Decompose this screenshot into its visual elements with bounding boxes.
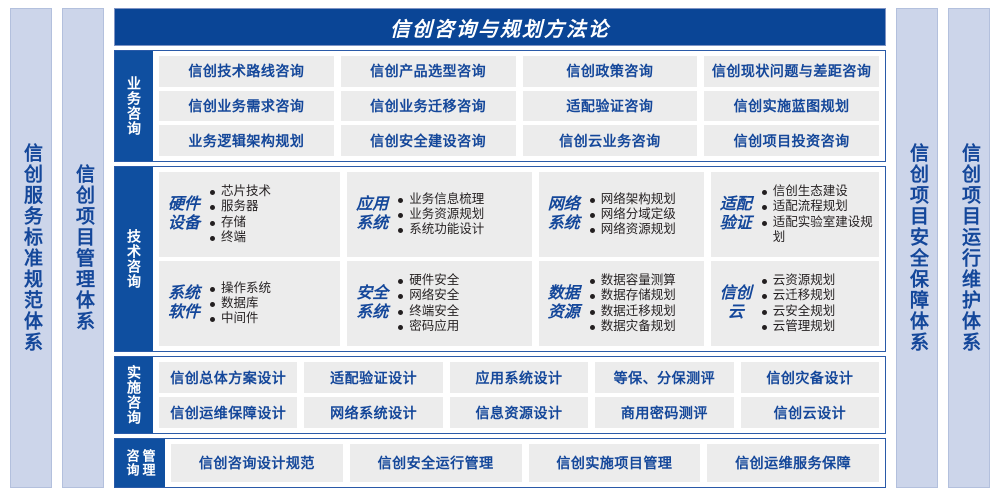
card-title-line1: 数据 xyxy=(548,285,580,302)
card-title-line2: 系统 xyxy=(548,215,580,232)
card-list: 芯片技术 服务器 存储 终端 xyxy=(209,184,334,245)
list-item: 云资源规划 xyxy=(761,273,873,288)
list-item: 业务信息梳理 xyxy=(397,192,526,207)
card-system-software[interactable]: 系统 软件 操作系统 数据库 中间件 xyxy=(159,261,340,346)
bullet-icon xyxy=(762,310,767,315)
chip-item[interactable]: 信创安全运行管理 xyxy=(350,444,522,482)
list-item: 云迁移规划 xyxy=(761,288,873,303)
chip-item[interactable]: 信创运维保障设计 xyxy=(159,397,297,428)
list-item: 网络分域定级 xyxy=(589,207,698,222)
card-title-line1: 硬件 xyxy=(168,196,200,213)
bullet-icon xyxy=(210,287,215,292)
card-list: 网络架构规划 网络分域定级 网络资源规划 xyxy=(589,192,698,238)
center-column: 信创咨询与规划方法论 业务咨询 信创技术路线咨询 信创产品选型咨询 信创政策咨询… xyxy=(114,8,886,488)
card-list: 操作系统 数据库 中间件 xyxy=(209,281,334,327)
section-label-text-a: 咨询 xyxy=(126,449,139,477)
bullet-icon xyxy=(590,198,595,203)
card-list: 云资源规划 云迁移规划 云安全规划 云管理规划 xyxy=(761,273,873,334)
pillar-project-security[interactable]: 信创项目安全保障体系 xyxy=(896,8,938,488)
card-application-system[interactable]: 应用 系统 业务信息梳理 业务资源规划 系统功能设计 xyxy=(347,172,532,257)
card-title-line2: 云 xyxy=(728,304,744,321)
bullet-icon xyxy=(590,325,595,330)
bullet-icon xyxy=(762,325,767,330)
bullet-icon xyxy=(210,302,215,307)
list-item: 云安全规划 xyxy=(761,304,873,319)
card-title-line2: 设备 xyxy=(168,215,200,232)
card-title-line2: 资源 xyxy=(548,304,580,321)
chip-item[interactable]: 信创实施蓝图规划 xyxy=(704,91,879,122)
bullet-icon xyxy=(762,190,767,195)
chip-item[interactable]: 信创灾备设计 xyxy=(741,362,879,393)
bullet-icon xyxy=(210,236,215,241)
card-title: 系统 软件 xyxy=(165,285,203,323)
list-item: 芯片技术 xyxy=(209,184,334,199)
pillar-label: 信创项目安全保障体系 xyxy=(907,143,927,353)
card-list: 业务信息梳理 业务资源规划 系统功能设计 xyxy=(397,192,526,238)
list-item: 适配实验室建设规划 xyxy=(761,215,873,246)
list-item: 业务资源规划 xyxy=(397,207,526,222)
chip-row: 信创咨询设计规范 信创安全运行管理 信创实施项目管理 信创运维服务保障 xyxy=(171,444,879,482)
card-title: 硬件 设备 xyxy=(165,196,203,234)
section-body-implementation: 信创总体方案设计 适配验证设计 应用系统设计 等保、分保测评 信创灾备设计 信创… xyxy=(153,357,885,433)
chip-item[interactable]: 信创项目投资咨询 xyxy=(704,125,879,156)
bullet-icon xyxy=(762,221,767,226)
section-implementation-consulting: 实施咨询 信创总体方案设计 适配验证设计 应用系统设计 等保、分保测评 信创灾备… xyxy=(114,356,886,434)
list-item: 存储 xyxy=(209,215,334,230)
card-list: 数据容量测算 数据存储规划 数据迁移规划 数据灾备规划 xyxy=(589,273,698,334)
card-title-line2: 软件 xyxy=(168,304,200,321)
card-title-line1: 应用 xyxy=(356,196,388,213)
bullet-icon xyxy=(398,213,403,218)
bullet-icon xyxy=(398,279,403,284)
chip-item[interactable]: 信创运维服务保障 xyxy=(707,444,879,482)
section-label-technical: 技术咨询 xyxy=(115,167,153,351)
section-label-text-b: 管理 xyxy=(142,449,155,477)
list-item: 中间件 xyxy=(209,311,334,326)
methodology-diagram: 信创服务标准规范体系 信创项目管理体系 信创咨询与规划方法论 业务咨询 信创技术… xyxy=(0,0,1000,496)
chip-item[interactable]: 信创云业务咨询 xyxy=(523,125,698,156)
list-item: 数据迁移规划 xyxy=(589,304,698,319)
card-title-line1: 信创 xyxy=(720,285,752,302)
card-title: 应用 系统 xyxy=(353,196,391,234)
bullet-icon xyxy=(398,228,403,233)
chip-item[interactable]: 等保、分保测评 xyxy=(595,362,733,393)
card-xinchuang-cloud[interactable]: 信创 云 云资源规划 云迁移规划 云安全规划 云管理规划 xyxy=(711,261,879,346)
bullet-icon xyxy=(590,310,595,315)
list-item: 网络资源规划 xyxy=(589,222,698,237)
pillar-project-operations[interactable]: 信创项目运行维护体系 xyxy=(948,8,990,488)
chip-item[interactable]: 适配验证设计 xyxy=(304,362,442,393)
chip-item[interactable]: 适配验证咨询 xyxy=(523,91,698,122)
card-title-line1: 系统 xyxy=(168,285,200,302)
list-item: 数据灾备规划 xyxy=(589,319,698,334)
bullet-icon xyxy=(762,294,767,299)
chip-item[interactable]: 信创产品选型咨询 xyxy=(341,56,516,87)
section-business-consulting: 业务咨询 信创技术路线咨询 信创产品选型咨询 信创政策咨询 信创现状问题与差距咨… xyxy=(114,50,886,162)
section-label-text: 实施咨询 xyxy=(127,365,141,425)
card-title: 信创 云 xyxy=(717,285,755,323)
page-title: 信创咨询与规划方法论 xyxy=(390,13,610,42)
chip-row: 信创技术路线咨询 信创产品选型咨询 信创政策咨询 信创现状问题与差距咨询 xyxy=(159,56,879,87)
chip-item[interactable]: 网络系统设计 xyxy=(304,397,442,428)
section-label-implementation: 实施咨询 xyxy=(115,357,153,433)
chip-item[interactable]: 信创总体方案设计 xyxy=(159,362,297,393)
card-title-line1: 适配 xyxy=(720,196,752,213)
bullet-icon xyxy=(762,205,767,210)
section-body-technical: 硬件 设备 芯片技术 服务器 存储 终端 应用 系统 xyxy=(153,167,885,351)
card-title-line1: 网络 xyxy=(548,196,580,213)
card-row: 硬件 设备 芯片技术 服务器 存储 终端 应用 系统 xyxy=(159,172,879,257)
section-body-management: 信创咨询设计规范 信创安全运行管理 信创实施项目管理 信创运维服务保障 xyxy=(165,439,885,487)
card-adaptation-verification[interactable]: 适配 验证 信创生态建设 适配流程规划 适配实验室建设规划 xyxy=(711,172,879,257)
chip-item[interactable]: 业务逻辑架构规划 xyxy=(159,125,334,156)
pillar-label: 信创服务标准规范体系 xyxy=(21,143,41,353)
bullet-icon xyxy=(762,279,767,284)
section-label-management: 咨询 管理 xyxy=(115,439,165,487)
card-title-line2: 系统 xyxy=(356,215,388,232)
card-title-line1: 安全 xyxy=(356,285,388,302)
list-item: 终端安全 xyxy=(397,304,526,319)
chip-item[interactable]: 信创业务需求咨询 xyxy=(159,91,334,122)
bullet-icon xyxy=(210,190,215,195)
bullet-icon xyxy=(590,279,595,284)
list-item: 适配流程规划 xyxy=(761,199,873,214)
bullet-icon xyxy=(398,294,403,299)
chip-item[interactable]: 信创业务迁移咨询 xyxy=(341,91,516,122)
list-item: 数据库 xyxy=(209,296,334,311)
card-security-system[interactable]: 安全 系统 硬件安全 网络安全 终端安全 密码应用 xyxy=(347,261,532,346)
list-item: 数据容量测算 xyxy=(589,273,698,288)
list-item: 终端 xyxy=(209,230,334,245)
chip-row: 信创总体方案设计 适配验证设计 应用系统设计 等保、分保测评 信创灾备设计 xyxy=(159,362,879,393)
chip-row: 业务逻辑架构规划 信创安全建设咨询 信创云业务咨询 信创项目投资咨询 xyxy=(159,125,879,156)
bullet-icon xyxy=(210,205,215,210)
card-title: 安全 系统 xyxy=(353,285,391,323)
chip-item[interactable]: 应用系统设计 xyxy=(450,362,588,393)
card-title: 网络 系统 xyxy=(545,196,583,234)
chip-item[interactable]: 信创现状问题与差距咨询 xyxy=(704,56,879,87)
list-item: 数据存储规划 xyxy=(589,288,698,303)
card-list: 信创生态建设 适配流程规划 适配实验室建设规划 xyxy=(761,184,873,245)
card-title-line2: 系统 xyxy=(356,304,388,321)
bullet-icon xyxy=(210,221,215,226)
card-hardware-device[interactable]: 硬件 设备 芯片技术 服务器 存储 终端 xyxy=(159,172,340,257)
list-item: 服务器 xyxy=(209,199,334,214)
bullet-icon xyxy=(398,198,403,203)
list-item: 网络安全 xyxy=(397,288,526,303)
card-list: 硬件安全 网络安全 终端安全 密码应用 xyxy=(397,273,526,334)
section-body-business: 信创技术路线咨询 信创产品选型咨询 信创政策咨询 信创现状问题与差距咨询 信创业… xyxy=(153,51,885,161)
section-label-text: 技术咨询 xyxy=(127,229,141,289)
list-item: 操作系统 xyxy=(209,281,334,296)
bullet-icon xyxy=(590,213,595,218)
chip-item[interactable]: 信创政策咨询 xyxy=(523,56,698,87)
chip-item[interactable]: 信创实施项目管理 xyxy=(529,444,701,482)
section-label-business: 业务咨询 xyxy=(115,51,153,161)
chip-item[interactable]: 信创安全建设咨询 xyxy=(341,125,516,156)
card-title-line2: 验证 xyxy=(720,215,752,232)
bullet-icon xyxy=(210,317,215,322)
list-item: 网络架构规划 xyxy=(589,192,698,207)
card-title: 适配 验证 xyxy=(717,196,755,234)
chip-item[interactable]: 信创咨询设计规范 xyxy=(171,444,343,482)
bullet-icon xyxy=(590,228,595,233)
pillar-label: 信创项目管理体系 xyxy=(73,164,93,332)
list-item: 系统功能设计 xyxy=(397,222,526,237)
pillar-project-management[interactable]: 信创项目管理体系 xyxy=(62,8,104,488)
pillar-service-standard[interactable]: 信创服务标准规范体系 xyxy=(10,8,52,488)
chip-item[interactable]: 信息资源设计 xyxy=(450,397,588,428)
section-consulting-management: 咨询 管理 信创咨询设计规范 信创安全运行管理 信创实施项目管理 信创运维服务保… xyxy=(114,438,886,488)
list-item: 硬件安全 xyxy=(397,273,526,288)
card-row: 系统 软件 操作系统 数据库 中间件 安全 系统 xyxy=(159,261,879,346)
list-item: 信创生态建设 xyxy=(761,184,873,199)
list-item: 密码应用 xyxy=(397,319,526,334)
pillar-label: 信创项目运行维护体系 xyxy=(959,143,979,353)
chip-row: 信创业务需求咨询 信创业务迁移咨询 适配验证咨询 信创实施蓝图规划 xyxy=(159,91,879,122)
card-network-system[interactable]: 网络 系统 网络架构规划 网络分域定级 网络资源规划 xyxy=(539,172,704,257)
chip-row: 信创运维保障设计 网络系统设计 信息资源设计 商用密码测评 信创云设计 xyxy=(159,397,879,428)
card-data-resource[interactable]: 数据 资源 数据容量测算 数据存储规划 数据迁移规划 数据灾备规划 xyxy=(539,261,704,346)
bullet-icon xyxy=(590,294,595,299)
card-title: 数据 资源 xyxy=(545,285,583,323)
section-technical-consulting: 技术咨询 硬件 设备 芯片技术 服务器 存储 终端 xyxy=(114,166,886,352)
chip-item[interactable]: 信创云设计 xyxy=(741,397,879,428)
diagram-title-bar: 信创咨询与规划方法论 xyxy=(114,8,886,46)
section-label-text: 业务咨询 xyxy=(127,76,141,136)
list-item: 云管理规划 xyxy=(761,319,873,334)
bullet-icon xyxy=(398,325,403,330)
bullet-icon xyxy=(398,310,403,315)
chip-item[interactable]: 商用密码测评 xyxy=(595,397,733,428)
chip-item[interactable]: 信创技术路线咨询 xyxy=(159,56,334,87)
